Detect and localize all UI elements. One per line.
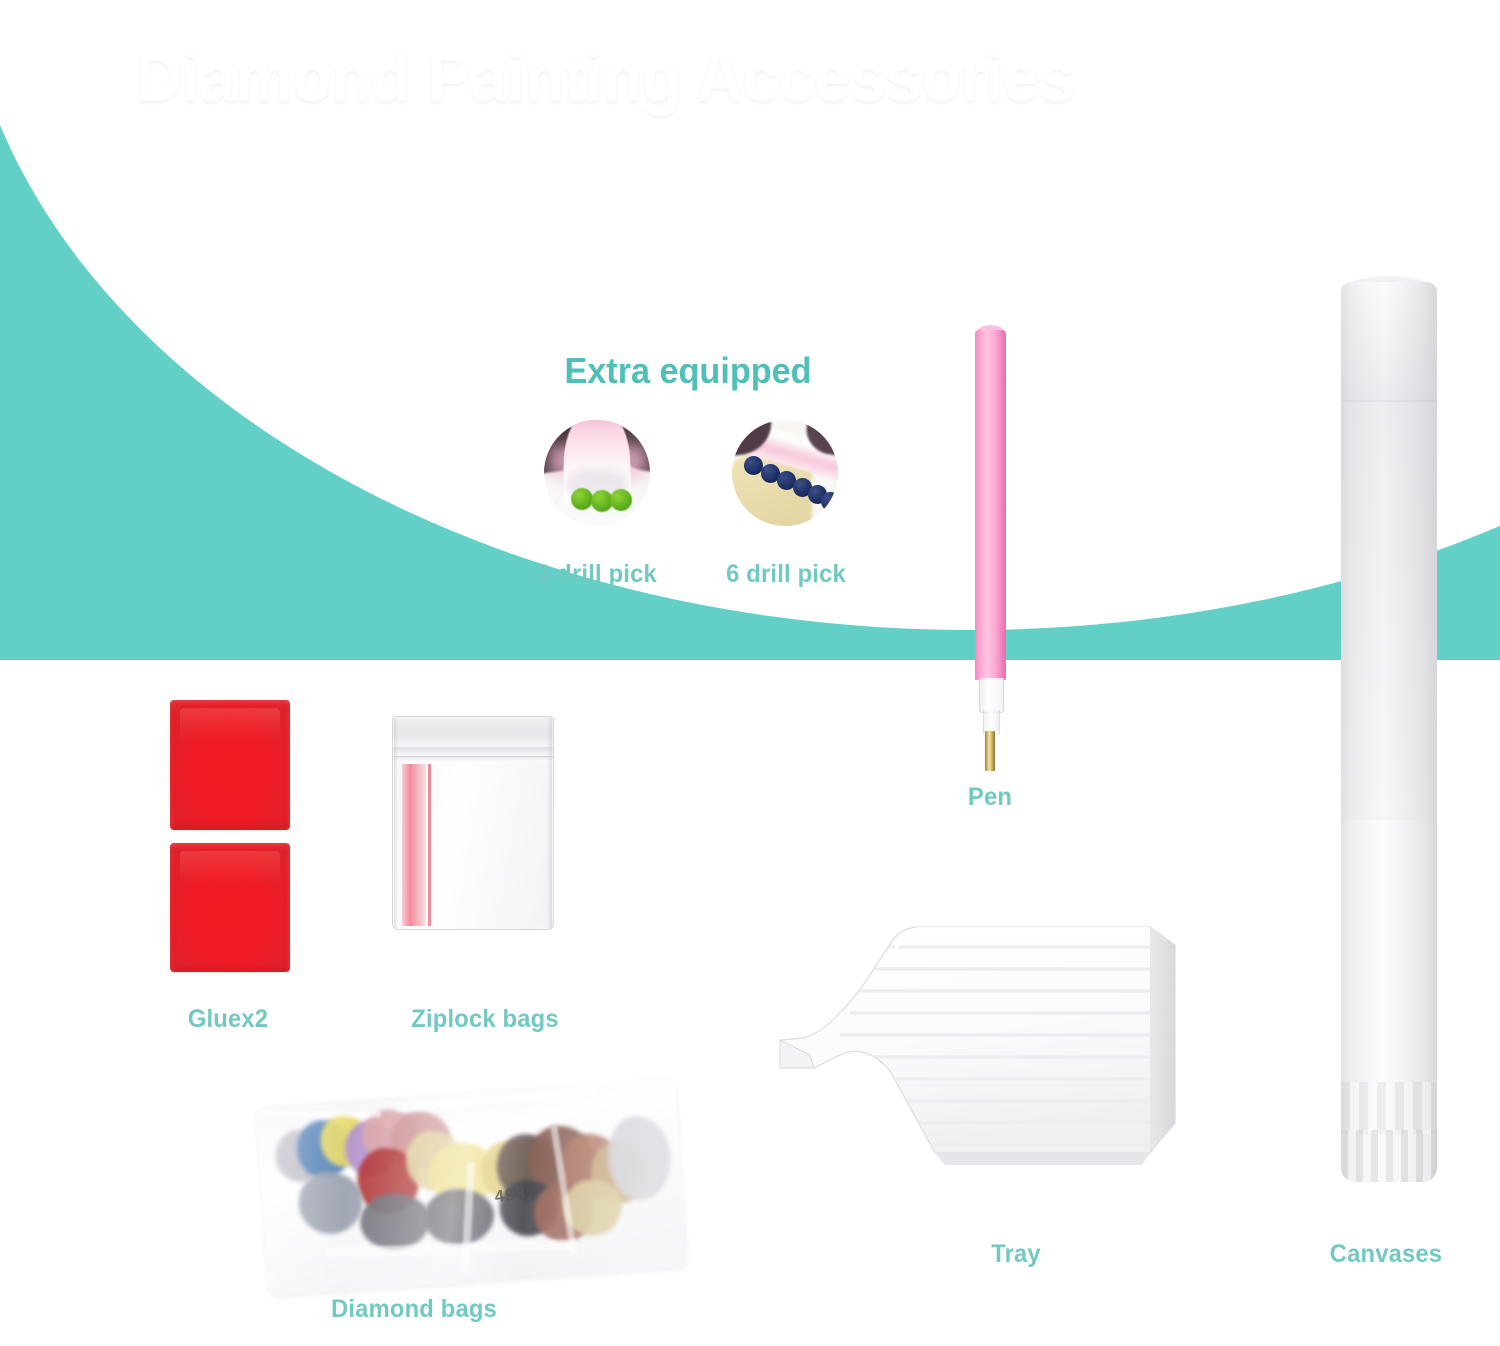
glue-square-1: [170, 700, 290, 830]
glue-square-2: [170, 843, 290, 972]
label-3-drill-pick: 3 drill pick: [537, 560, 657, 589]
diamond-bag-marking: 498: [494, 1184, 528, 1208]
diamond-bags-bundle: 498: [256, 1078, 688, 1297]
photo-6-drill-pick: [732, 420, 838, 526]
extra-equipped-heading: Extra equipped: [564, 350, 811, 392]
drill-tray: [770, 905, 1190, 1175]
label-ziplock-bags: Ziplock bags: [411, 1005, 558, 1034]
photo-3-drill-pick: [544, 420, 650, 526]
label-diamond-bags: Diamond bags: [331, 1295, 497, 1324]
label-6-drill-pick: 6 drill pick: [726, 560, 846, 589]
label-glue: Gluex2: [188, 1005, 268, 1034]
label-canvases: Canvases: [1330, 1240, 1442, 1269]
ziplock-bags: [392, 716, 554, 930]
product-infographic: Diamond Painting Accessories Extra equip…: [0, 0, 1500, 1346]
label-tray: Tray: [991, 1240, 1041, 1269]
page-title: Diamond Painting Accessories: [135, 38, 1075, 116]
label-pen: Pen: [968, 783, 1012, 812]
